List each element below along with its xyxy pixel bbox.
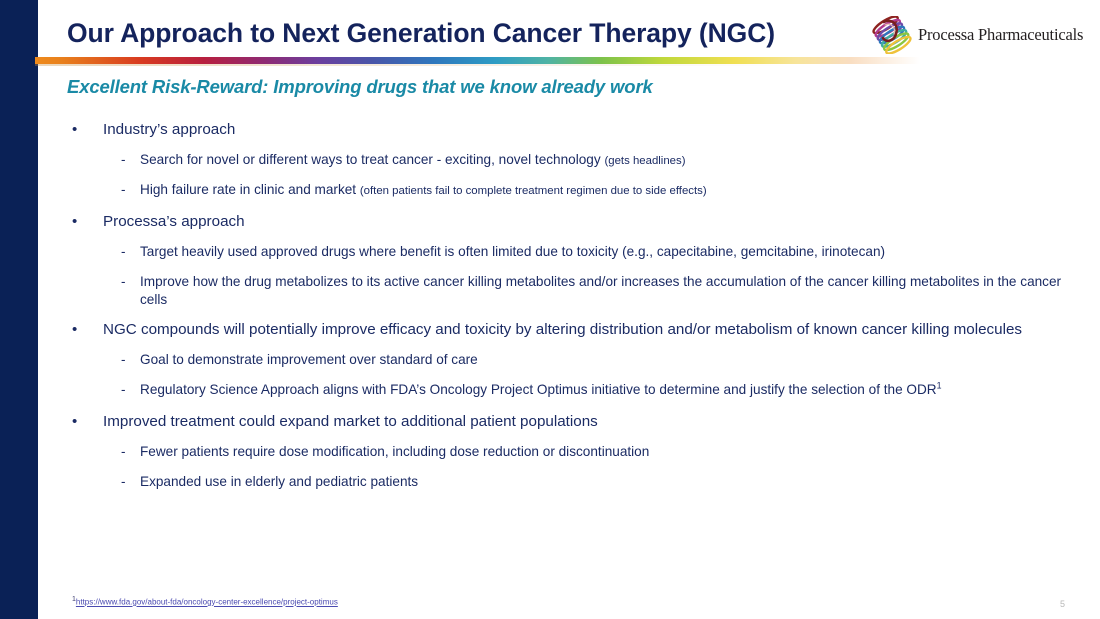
bullet-marker: • bbox=[72, 212, 77, 232]
bullet-list: • Industry’s approach - Search for novel… bbox=[0, 120, 1100, 495]
footnote: 1https://www.fda.gov/about-fda/oncology-… bbox=[72, 596, 338, 607]
bullet-text: NGC compounds will potentially improve e… bbox=[103, 321, 1022, 338]
dash-marker: - bbox=[121, 473, 126, 491]
sub-bullet-text: Search for novel or different ways to tr… bbox=[140, 152, 604, 167]
bullet-text: Processa’s approach bbox=[103, 213, 245, 230]
bullet-marker: • bbox=[72, 320, 77, 340]
slide-canvas: Our Approach to Next Generation Cancer T… bbox=[0, 0, 1100, 619]
bullet-processa-approach: • Processa’s approach bbox=[0, 212, 1100, 234]
bullet-industry-approach: • Industry’s approach bbox=[0, 120, 1100, 142]
bullet-text: Industry’s approach bbox=[103, 121, 235, 138]
brand-logo-text: Processa Pharmaceuticals bbox=[918, 25, 1083, 45]
dash-marker: - bbox=[121, 243, 126, 261]
sub-bullet-search-novel: - Search for novel or different ways to … bbox=[0, 151, 1100, 171]
bullet-ngc-compounds: • NGC compounds will potentially improve… bbox=[0, 320, 1100, 342]
sub-bullet-text: Target heavily used approved drugs where… bbox=[140, 244, 885, 259]
footnote-reference: 1 bbox=[937, 380, 942, 390]
dash-marker: - bbox=[121, 351, 126, 369]
slide-subtitle: Excellent Risk-Reward: Improving drugs t… bbox=[67, 76, 653, 98]
rainbow-divider bbox=[35, 57, 920, 64]
dash-marker: - bbox=[121, 151, 126, 169]
sub-bullet-note: (often patients fail to complete treatme… bbox=[360, 185, 707, 197]
dash-marker: - bbox=[121, 381, 126, 399]
sub-bullet-goal-standard-of-care: - Goal to demonstrate improvement over s… bbox=[0, 351, 1100, 371]
page-title: Our Approach to Next Generation Cancer T… bbox=[67, 18, 867, 48]
footnote-link[interactable]: https://www.fda.gov/about-fda/oncology-c… bbox=[76, 598, 338, 607]
sub-bullet-high-failure-rate: - High failure rate in clinic and market… bbox=[0, 181, 1100, 201]
sub-bullet-text: High failure rate in clinic and market bbox=[140, 182, 360, 197]
bullet-improved-treatment: • Improved treatment could expand market… bbox=[0, 412, 1100, 434]
brand-logo: Processa Pharmaceuticals bbox=[872, 16, 1083, 54]
dash-marker: - bbox=[121, 273, 126, 291]
sub-bullet-text: Fewer patients require dose modification… bbox=[140, 444, 649, 459]
sub-bullet-text: Goal to demonstrate improvement over sta… bbox=[140, 352, 478, 367]
bullet-text: Improved treatment could expand market t… bbox=[103, 413, 598, 430]
sub-bullet-target-approved-drugs: - Target heavily used approved drugs whe… bbox=[0, 243, 1100, 263]
sub-bullet-improve-metabolism: - Improve how the drug metabolizes to it… bbox=[0, 273, 1100, 310]
rainbow-divider-shadow bbox=[35, 64, 920, 66]
sub-bullet-text: Improve how the drug metabolizes to its … bbox=[140, 274, 1061, 307]
dash-marker: - bbox=[121, 443, 126, 461]
sub-bullet-note: (gets headlines) bbox=[604, 155, 685, 167]
sub-bullet-text: Expanded use in elderly and pediatric pa… bbox=[140, 474, 418, 489]
rainbow-ribbon-logo-icon bbox=[872, 16, 912, 54]
sub-bullet-fewer-dose-modification: - Fewer patients require dose modificati… bbox=[0, 443, 1100, 463]
sub-bullet-regulatory-science: - Regulatory Science Approach aligns wit… bbox=[0, 381, 1100, 401]
bullet-marker: • bbox=[72, 120, 77, 140]
bullet-marker: • bbox=[72, 412, 77, 432]
sub-bullet-elderly-pediatric: - Expanded use in elderly and pediatric … bbox=[0, 473, 1100, 493]
sub-bullet-text: Regulatory Science Approach aligns with … bbox=[140, 382, 937, 397]
dash-marker: - bbox=[121, 181, 126, 199]
page-number: 5 bbox=[1060, 599, 1065, 609]
